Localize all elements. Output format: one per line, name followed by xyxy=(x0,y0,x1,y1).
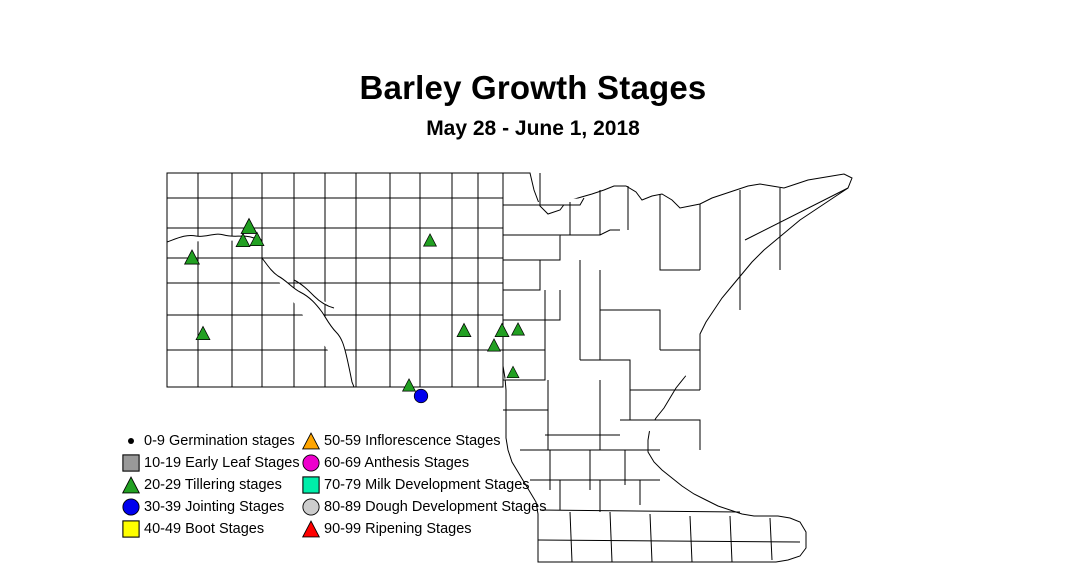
legend-item: 90-99 Ripening Stages xyxy=(298,518,543,540)
square-swatch-icon xyxy=(118,518,144,540)
map-data-point-triangle xyxy=(236,233,251,248)
map-data-point-triangle xyxy=(495,323,510,338)
map-data-point-triangle xyxy=(423,233,437,247)
legend-column-left: 0-9 Germination stages10-19 Early Leaf S… xyxy=(118,430,308,540)
legend-item-label: 70-79 Milk Development Stages xyxy=(324,477,530,493)
map-legend: 0-9 Germination stages10-19 Early Leaf S… xyxy=(118,430,543,540)
triangle-swatch-icon xyxy=(298,430,324,452)
triangle-swatch-icon xyxy=(298,518,324,540)
legend-item-label: 50-59 Inflorescence Stages xyxy=(324,433,501,449)
title-block: Barley Growth Stages May 28 - June 1, 20… xyxy=(0,68,1066,144)
map-data-point-triangle xyxy=(487,338,501,352)
circle-swatch-icon xyxy=(298,496,324,518)
page-title: Barley Growth Stages xyxy=(0,68,1066,108)
legend-item: 70-79 Milk Development Stages xyxy=(298,474,543,496)
circle-swatch-icon xyxy=(118,496,144,518)
legend-item: 30-39 Jointing Stages xyxy=(118,496,308,518)
triangle-swatch-icon xyxy=(118,474,144,496)
square-swatch-icon xyxy=(118,452,144,474)
minnesota-counties xyxy=(503,173,852,562)
legend-item-label: 30-39 Jointing Stages xyxy=(144,499,284,515)
legend-item: 80-89 Dough Development Stages xyxy=(298,496,543,518)
legend-item-label: 20-29 Tillering stages xyxy=(144,477,282,493)
legend-item: 20-29 Tillering stages xyxy=(118,474,308,496)
map-data-point-circle xyxy=(414,389,429,404)
map-data-point-triangle xyxy=(250,232,265,247)
north-dakota-counties xyxy=(167,173,503,387)
page-subtitle: May 28 - June 1, 2018 xyxy=(0,114,1066,144)
legend-item: 10-19 Early Leaf Stages xyxy=(118,452,308,474)
legend-item-label: 0-9 Germination stages xyxy=(144,433,295,449)
legend-item: 50-59 Inflorescence Stages xyxy=(298,430,543,452)
legend-item-label: 10-19 Early Leaf Stages xyxy=(144,455,300,471)
map-data-point-triangle xyxy=(184,249,200,265)
legend-item-label: 40-49 Boot Stages xyxy=(144,521,264,537)
square-swatch-icon xyxy=(298,474,324,496)
map-data-point-triangle xyxy=(507,366,520,379)
legend-item-label: 90-99 Ripening Stages xyxy=(324,521,472,537)
circle-swatch-icon xyxy=(298,452,324,474)
legend-item-label: 60-69 Anthesis Stages xyxy=(324,455,469,471)
legend-item-label: 80-89 Dough Development Stages xyxy=(324,499,546,515)
legend-item: 0-9 Germination stages xyxy=(118,430,308,452)
map-data-point-triangle xyxy=(511,322,525,336)
legend-column-right: 50-59 Inflorescence Stages60-69 Anthesis… xyxy=(298,430,543,540)
legend-item: 40-49 Boot Stages xyxy=(118,518,308,540)
legend-item: 60-69 Anthesis Stages xyxy=(298,452,543,474)
dot-swatch-icon xyxy=(118,430,144,452)
map-data-point-triangle xyxy=(196,326,211,341)
map-data-point-triangle xyxy=(457,323,472,338)
